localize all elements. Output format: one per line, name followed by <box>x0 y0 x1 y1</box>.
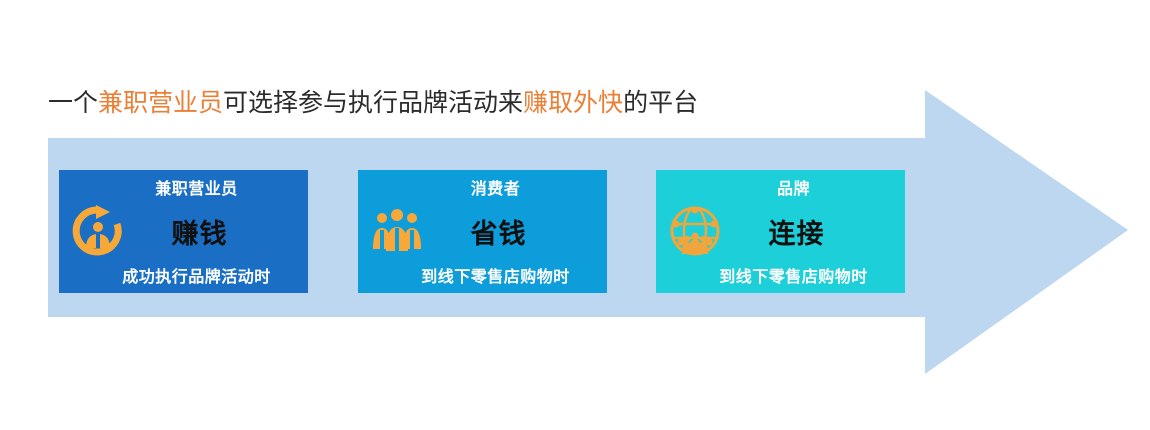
title-segment-accent-1: 兼职营业员 <box>98 88 223 117</box>
page-title: 一个兼职营业员可选择参与执行品牌活动来赚取外快的平台 <box>48 86 698 120</box>
title-segment-plain-3: 的平台 <box>623 88 698 117</box>
card-header-label: 品牌 <box>656 175 905 199</box>
card-main-label: 省钱 <box>358 212 607 251</box>
card-header-label: 兼职营业员 <box>59 175 308 199</box>
title-segment-accent-2: 赚取外快 <box>523 88 623 117</box>
title-segment-plain-1: 一个 <box>48 88 98 117</box>
segment-card-consumer[interactable]: 消费者 省钱 到线下零售店购物时 <box>358 170 607 293</box>
card-footer-label: 到线下零售店购物时 <box>358 263 607 287</box>
diagram-canvas: 一个兼职营业员可选择参与执行品牌活动来赚取外快的平台 兼职营业员 赚钱 成功执行… <box>0 0 1150 430</box>
card-footer-label: 到线下零售店购物时 <box>656 263 905 287</box>
card-main-label: 连接 <box>656 212 905 251</box>
segment-card-part-time-clerk[interactable]: 兼职营业员 赚钱 成功执行品牌活动时 <box>59 170 308 293</box>
segment-card-brand[interactable]: 品牌 连接 到线下零售店购物时 <box>656 170 905 293</box>
card-header-label: 消费者 <box>358 175 607 199</box>
title-segment-plain-2: 可选择参与执行品牌活动来 <box>223 88 523 117</box>
card-main-label: 赚钱 <box>59 212 308 251</box>
card-footer-label: 成功执行品牌活动时 <box>59 263 308 287</box>
